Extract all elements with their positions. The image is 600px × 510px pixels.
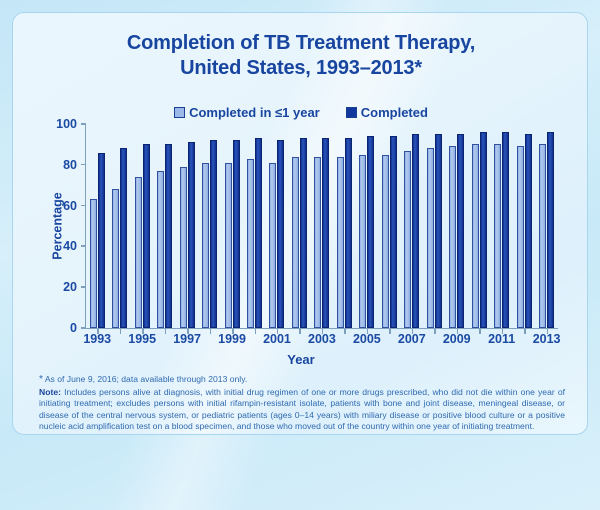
- x-axis-tick-mark: [210, 329, 212, 334]
- x-axis-tick-mark: [120, 329, 122, 334]
- chart-title-line-2: United States, 1993–2013*: [13, 56, 588, 81]
- x-axis-tick-mark: [524, 329, 526, 334]
- legend-item-2: Completed: [346, 105, 428, 120]
- note: Note: Includes persons alive at diagnosi…: [39, 387, 565, 433]
- bar-group[interactable]: [243, 124, 265, 328]
- x-axis-title: Year: [13, 352, 588, 367]
- footnote: * As of June 9, 2016; data available thr…: [39, 374, 565, 385]
- x-axis-tick-mark: [255, 329, 257, 334]
- bar-completed-within-1-year[interactable]: [337, 157, 344, 328]
- x-axis-tick-label: 1997: [173, 332, 201, 346]
- bar-completed-within-1-year[interactable]: [404, 151, 411, 328]
- dark-blue-square-icon: [346, 107, 357, 118]
- x-axis-tick-label: 2005: [353, 332, 381, 346]
- x-axis-tick-label: 2009: [443, 332, 471, 346]
- legend-label: Completed in ≤1 year: [189, 105, 320, 120]
- x-axis-tick-label: 2007: [398, 332, 426, 346]
- y-axis-tick-label: 40: [37, 239, 86, 253]
- bar-completed[interactable]: [390, 136, 397, 328]
- bar-completed-within-1-year[interactable]: [292, 157, 299, 328]
- bar-completed-within-1-year[interactable]: [359, 155, 366, 328]
- bar-group[interactable]: [333, 124, 355, 328]
- x-axis-tick-label: 1999: [218, 332, 246, 346]
- bar-completed[interactable]: [412, 134, 419, 328]
- bar-completed[interactable]: [345, 138, 352, 328]
- bar-group[interactable]: 2005: [356, 124, 378, 328]
- bar-completed-within-1-year[interactable]: [225, 163, 232, 328]
- x-axis-tick-label: 2013: [533, 332, 561, 346]
- x-axis-tick-label: 1993: [83, 332, 111, 346]
- x-axis-tick-label: 1995: [128, 332, 156, 346]
- bar-completed[interactable]: [120, 148, 127, 328]
- bar-group[interactable]: [108, 124, 130, 328]
- x-axis-tick-mark: [299, 329, 301, 334]
- bar-completed-within-1-year[interactable]: [247, 159, 254, 328]
- x-axis-tick-mark: [165, 329, 167, 334]
- footnote-text: As of June 9, 2016; data available throu…: [45, 374, 247, 384]
- bar-completed[interactable]: [233, 140, 240, 328]
- bar-completed[interactable]: [435, 134, 442, 328]
- bar-completed[interactable]: [98, 153, 105, 328]
- y-axis-tick-label: 100: [37, 117, 86, 131]
- y-axis-tick-label: 20: [37, 280, 86, 294]
- bar-completed-within-1-year[interactable]: [539, 144, 546, 328]
- bar-group[interactable]: 1997: [176, 124, 198, 328]
- bar-completed-within-1-year[interactable]: [427, 148, 434, 328]
- bar-completed-within-1-year[interactable]: [90, 199, 97, 328]
- chart-title-line-1: Completion of TB Treatment Therapy,: [13, 31, 588, 56]
- x-axis-tick-label: 2011: [488, 332, 515, 346]
- bar-completed[interactable]: [457, 134, 464, 328]
- bar-group[interactable]: 1995: [131, 124, 153, 328]
- legend-label: Completed: [361, 105, 428, 120]
- bar-completed[interactable]: [143, 144, 150, 328]
- bar-completed[interactable]: [277, 140, 284, 328]
- bar-completed-within-1-year[interactable]: [112, 189, 119, 328]
- x-axis-tick-label: 2001: [263, 332, 291, 346]
- bar-group[interactable]: 2003: [311, 124, 333, 328]
- note-text: Includes persons alive at diagnosis, wit…: [39, 387, 565, 431]
- bar-completed-within-1-year[interactable]: [180, 167, 187, 328]
- y-axis-tick-label: 80: [37, 158, 86, 172]
- x-axis-tick-mark: [344, 329, 346, 334]
- bar-completed-within-1-year[interactable]: [202, 163, 209, 328]
- x-axis-tick-mark: [434, 329, 436, 334]
- bar-completed-within-1-year[interactable]: [517, 146, 524, 328]
- notes-block: * As of June 9, 2016; data available thr…: [39, 374, 565, 433]
- chart-legend: Completed in ≤1 yearCompleted: [13, 105, 588, 120]
- bar-completed[interactable]: [210, 140, 217, 328]
- bar-completed[interactable]: [367, 136, 374, 328]
- bar-series-container: 1993199519971999200120032005200720092011…: [86, 124, 558, 328]
- bar-completed-within-1-year[interactable]: [449, 146, 456, 328]
- bar-completed-within-1-year[interactable]: [494, 144, 501, 328]
- x-axis-tick-mark: [389, 329, 391, 334]
- bar-group[interactable]: 1999: [221, 124, 243, 328]
- chart-panel: Completion of TB Treatment Therapy, Unit…: [12, 12, 588, 435]
- bar-completed-within-1-year[interactable]: [135, 177, 142, 328]
- bar-group[interactable]: [378, 124, 400, 328]
- y-axis-tick-label: 60: [37, 199, 86, 213]
- chart-title: Completion of TB Treatment Therapy, Unit…: [13, 31, 588, 81]
- bar-completed[interactable]: [502, 132, 509, 328]
- y-axis-tick-label: 0: [37, 321, 86, 335]
- bar-completed[interactable]: [165, 144, 172, 328]
- bar-completed[interactable]: [188, 142, 195, 328]
- bar-group[interactable]: 2013: [535, 124, 557, 328]
- x-axis-tick-mark: [479, 329, 481, 334]
- bar-completed[interactable]: [322, 138, 329, 328]
- bar-group[interactable]: 2007: [401, 124, 423, 328]
- bar-group[interactable]: [198, 124, 220, 328]
- bar-completed-within-1-year[interactable]: [382, 155, 389, 328]
- bar-completed[interactable]: [480, 132, 487, 328]
- bar-group[interactable]: [423, 124, 445, 328]
- bar-group[interactable]: 2001: [266, 124, 288, 328]
- bar-completed[interactable]: [547, 132, 554, 328]
- bar-completed[interactable]: [525, 134, 532, 328]
- bar-group[interactable]: [288, 124, 310, 328]
- bar-group[interactable]: 2009: [446, 124, 468, 328]
- bar-completed-within-1-year[interactable]: [269, 163, 276, 328]
- bar-group[interactable]: 1993: [86, 124, 108, 328]
- bar-completed-within-1-year[interactable]: [314, 157, 321, 328]
- slide-canvas: Completion of TB Treatment Therapy, Unit…: [0, 0, 600, 510]
- light-blue-square-icon: [174, 107, 185, 118]
- bar-group[interactable]: [468, 124, 490, 328]
- bar-group[interactable]: [513, 124, 535, 328]
- plot-area: Percentage 020406080100 1993199519971999…: [85, 124, 558, 329]
- x-axis-tick-label: 2003: [308, 332, 336, 346]
- bar-group[interactable]: [153, 124, 175, 328]
- footnote-marker: *: [39, 374, 43, 385]
- bar-completed[interactable]: [300, 138, 307, 328]
- bar-group[interactable]: 2011: [490, 124, 512, 328]
- note-label: Note:: [39, 387, 61, 397]
- bar-completed[interactable]: [255, 138, 262, 328]
- bar-completed-within-1-year[interactable]: [472, 144, 479, 328]
- bar-completed-within-1-year[interactable]: [157, 171, 164, 328]
- legend-item-1: Completed in ≤1 year: [174, 105, 320, 120]
